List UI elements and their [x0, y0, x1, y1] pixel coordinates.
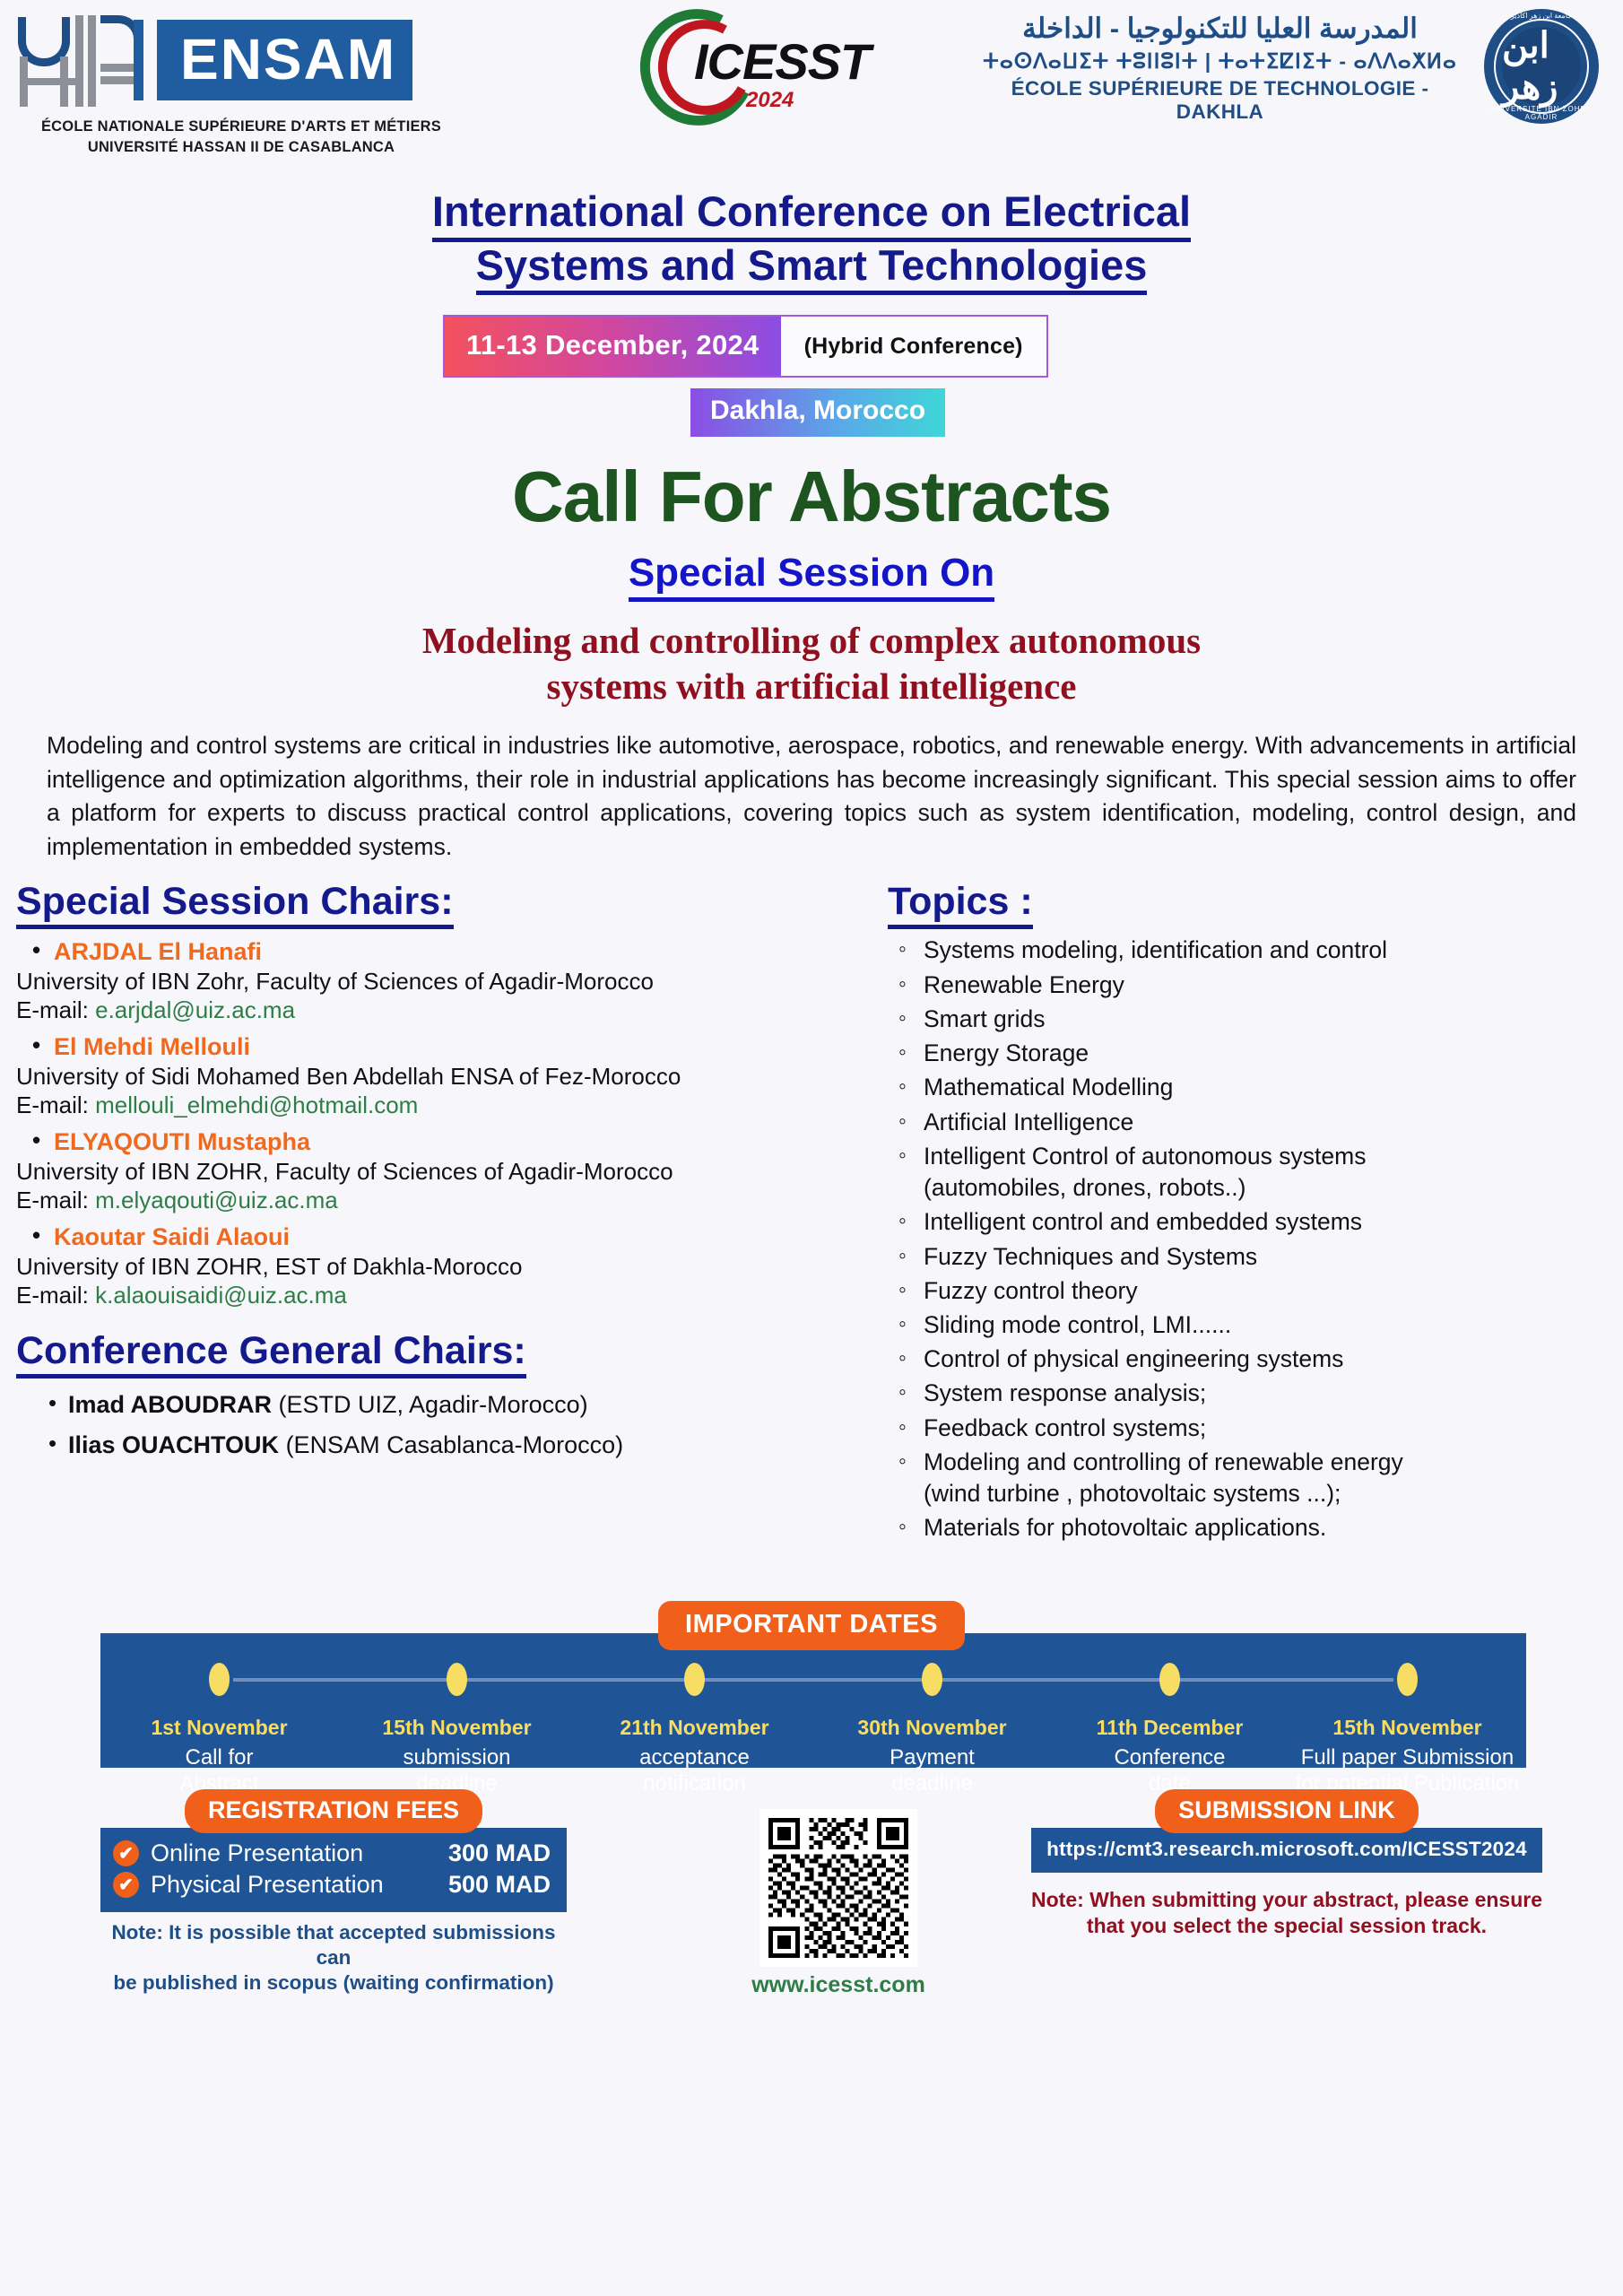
chair-email[interactable]: k.alaouisaidi@uiz.ac.ma	[95, 1282, 347, 1309]
milestone-date: 30th November	[813, 1716, 1051, 1740]
timeline-milestone: 21th November acceptance notification	[576, 1633, 813, 1797]
ensam-wordmark: ENSAM	[147, 20, 412, 100]
important-dates-section: IMPORTANT DATES 1st November Call for Ab…	[0, 1601, 1623, 1771]
timeline-dot-icon	[684, 1663, 705, 1696]
timeline-milestone: 30th November Payment deadline	[813, 1633, 1051, 1797]
special-session-chairs-heading: Special Session Chairs:	[16, 880, 454, 929]
topic-text: Fuzzy control theory	[924, 1277, 1138, 1304]
icesst-logo: ICESST 2024	[638, 5, 870, 131]
fee-price: 300 MAD	[448, 1839, 551, 1867]
submission-link-block: SUBMISSION LINK https://cmt3.research.mi…	[1031, 1789, 1542, 1939]
topic-item: Renewable Energy	[924, 970, 1614, 1001]
milestone-label-line1: Call for	[100, 1745, 338, 1771]
uiz-seal-arabic-text: جامعة ابن زهر اكادير	[1484, 12, 1599, 20]
topic-text: Renewable Energy	[924, 971, 1124, 998]
topic-item: Sliding mode control, LMI......	[924, 1309, 1614, 1341]
fee-type: Online Presentation	[151, 1839, 448, 1867]
timeline-dot-icon	[1397, 1663, 1418, 1696]
chairs-column: Special Session Chairs: ARJDAL El Hanafi…	[16, 880, 868, 1459]
milestone-date: 15th November	[1289, 1716, 1526, 1740]
special-session-on-wrapper: Special Session On	[0, 551, 1623, 602]
registration-fees-panel: ✔ Online Presentation 300 MAD ✔ Physical…	[100, 1828, 567, 1912]
milestone-date: 15th November	[338, 1716, 576, 1740]
est-tifinagh-name: ⵜⴰⵙⴷⴰⵡⵉⵜ ⵜⵓⵏⵏⵓⵏⵜ | ⵜⴰⵜⵉⵇⵏⵉⵜ - ⴰⴷⴷⴰⵅⵍⴰ	[976, 49, 1464, 74]
conference-title-line2: Systems and Smart Technologies	[476, 242, 1148, 296]
timeline-milestone: 15th November submission deadline	[338, 1633, 576, 1797]
chair-entry: ARJDAL El Hanafi University of IBN Zohr,…	[16, 938, 868, 1024]
topic-text: System response analysis;	[924, 1379, 1206, 1406]
session-topic-line1: Modeling and controlling of complex auto…	[0, 618, 1623, 664]
uiz-seal-monogram: ابن زهر	[1502, 27, 1581, 106]
registration-fees-block: REGISTRATION FEES ✔ Online Presentation …	[100, 1789, 567, 1996]
email-label: E-mail:	[16, 1091, 95, 1118]
header-logos: ENSAM ÉCOLE NATIONALE SUPÉRIEURE D'ARTS …	[0, 0, 1623, 179]
icesst-wordmark: ICESST	[694, 32, 870, 91]
submission-note-line2: that you select the special session trac…	[1031, 1913, 1542, 1939]
registration-note: Note: It is possible that accepted submi…	[100, 1920, 567, 1996]
general-chair-name: Imad ABOUDRAR	[68, 1391, 272, 1418]
poster-root: ENSAM ÉCOLE NATIONALE SUPÉRIEURE D'ARTS …	[0, 0, 1623, 2296]
ensam-subtitle-line2: UNIVERSITÉ HASSAN II DE CASABLANCA	[13, 139, 470, 156]
chair-name: ELYAQOUTI Mustapha	[54, 1128, 868, 1156]
topic-text: Feedback control systems;	[924, 1414, 1206, 1441]
topic-text: Materials for photovoltaic applications.	[924, 1514, 1326, 1541]
chair-affiliation: University of IBN ZOHR, EST of Dakhla-Mo…	[16, 1253, 868, 1281]
registration-note-line2: be published in scopus (waiting confirma…	[100, 1970, 567, 1996]
fee-type: Physical Presentation	[151, 1871, 448, 1899]
special-session-on-heading: Special Session On	[629, 551, 994, 602]
chair-entry: Kaoutar Saidi Alaoui University of IBN Z…	[16, 1223, 868, 1309]
fee-row: ✔ Online Presentation 300 MAD	[113, 1839, 551, 1867]
timeline: 1st November Call for Abstract 15th Nove…	[100, 1633, 1526, 1768]
chair-email[interactable]: e.arjdal@uiz.ac.ma	[95, 996, 295, 1023]
est-french-name: ÉCOLE SUPÉRIEURE DE TECHNOLOGIE - DAKHLA	[976, 77, 1464, 124]
bottom-section: REGISTRATION FEES ✔ Online Presentation …	[0, 1789, 1623, 2058]
topic-item: Modeling and controlling of renewable en…	[924, 1447, 1614, 1509]
topic-text: Control of physical engineering systems	[924, 1345, 1343, 1372]
registration-note-line1: Note: It is possible that accepted submi…	[100, 1920, 567, 1970]
general-chair-entry: Ilias OUACHTOUK (ENSAM Casablanca-Morocc…	[68, 1431, 868, 1459]
topic-text: Intelligent Control of autonomous system…	[924, 1143, 1366, 1170]
fee-row: ✔ Physical Presentation 500 MAD	[113, 1871, 551, 1899]
topics-heading-wrapper: Topics :	[888, 880, 1614, 929]
chair-entry: ELYAQOUTI Mustapha University of IBN ZOH…	[16, 1128, 868, 1214]
chair-name: El Mehdi Mellouli	[54, 1033, 868, 1061]
topic-text: Artificial Intelligence	[924, 1109, 1133, 1135]
conference-general-chairs-heading: Conference General Chairs:	[16, 1329, 526, 1378]
timeline-dot-icon	[1159, 1663, 1180, 1696]
topic-item: Control of physical engineering systems	[924, 1344, 1614, 1375]
topic-item: Energy Storage	[924, 1038, 1614, 1069]
timeline-milestone: 15th November Full paper Submission for …	[1289, 1633, 1526, 1797]
milestone-label-line1: Conference	[1051, 1745, 1289, 1771]
timeline-dot-icon	[209, 1663, 230, 1696]
chair-email[interactable]: mellouli_elmehdi@hotmail.com	[95, 1091, 418, 1118]
topic-item: Fuzzy control theory	[924, 1275, 1614, 1307]
topic-text-continuation: (wind turbine , photovoltaic systems ...…	[924, 1478, 1614, 1509]
milestone-label-line1: Payment	[813, 1745, 1051, 1771]
conference-title: International Conference on Electrical S…	[0, 188, 1623, 295]
important-dates-panel: 1st November Call for Abstract 15th Nove…	[100, 1633, 1526, 1768]
email-label: E-mail:	[16, 1187, 95, 1213]
ensam-logo: ENSAM ÉCOLE NATIONALE SUPÉRIEURE D'ARTS …	[13, 7, 470, 156]
topic-item: Artificial Intelligence	[924, 1107, 1614, 1138]
general-chair-entry: Imad ABOUDRAR (ESTD UIZ, Agadir-Morocco)	[68, 1391, 868, 1419]
chair-name: Kaoutar Saidi Alaoui	[54, 1223, 868, 1251]
topic-text: Fuzzy Techniques and Systems	[924, 1243, 1257, 1270]
topics-column: Topics : Systems modeling, identificatio…	[888, 880, 1614, 1544]
timeline-milestone: 1st November Call for Abstract	[100, 1633, 338, 1797]
session-topic: Modeling and controlling of complex auto…	[0, 618, 1623, 709]
ensam-subtitle-line1: ÉCOLE NATIONALE SUPÉRIEURE D'ARTS ET MÉT…	[13, 118, 470, 135]
chair-affiliation: University of IBN ZOHR, Faculty of Scien…	[16, 1158, 868, 1186]
topic-text: Sliding mode control, LMI......	[924, 1311, 1231, 1338]
milestone-date: 21th November	[576, 1716, 813, 1740]
qr-block: www.icesst.com	[749, 1809, 928, 1998]
general-chair-name: Ilias OUACHTOUK	[68, 1431, 279, 1458]
topic-item: Feedback control systems;	[924, 1413, 1614, 1444]
submission-link-badge: SUBMISSION LINK	[1155, 1789, 1419, 1833]
topic-item: Intelligent Control of autonomous system…	[924, 1141, 1614, 1204]
milestone-date: 1st November	[100, 1716, 338, 1740]
conference-mode-badge: (Hybrid Conference)	[781, 317, 1046, 376]
general-chairs-heading-wrapper: Conference General Chairs:	[16, 1329, 868, 1378]
chair-email-row: E-mail: mellouli_elmehdi@hotmail.com	[16, 1091, 868, 1119]
qr-code-icon[interactable]	[759, 1809, 917, 1967]
milestone-label-line1: submission	[338, 1745, 576, 1771]
topic-text: Intelligent control and embedded systems	[924, 1208, 1362, 1235]
conference-dates-badge: 11-13 December, 2024	[445, 317, 781, 376]
uh2-monogram-icon	[13, 10, 147, 110]
general-chair-affiliation: (ESTD UIZ, Agadir-Morocco)	[279, 1391, 588, 1418]
session-topic-line2: systems with artificial intelligence	[0, 664, 1623, 709]
conference-title-line1: International Conference on Electrical	[432, 188, 1191, 242]
topic-text-continuation: (automobiles, drones, robots..)	[924, 1172, 1614, 1204]
email-label: E-mail:	[16, 996, 95, 1023]
event-banners: 11-13 December, 2024 (Hybrid Conference)…	[0, 315, 1623, 436]
chair-name: ARJDAL El Hanafi	[54, 938, 868, 966]
chair-email-row: E-mail: e.arjdal@uiz.ac.ma	[16, 996, 868, 1024]
chair-email[interactable]: m.elyaqouti@uiz.ac.ma	[95, 1187, 338, 1213]
topic-text: Systems modeling, identification and con…	[924, 936, 1387, 963]
submission-note-line1: Note: When submitting your abstract, ple…	[1031, 1887, 1542, 1913]
chair-affiliation: University of IBN Zohr, Faculty of Scien…	[16, 968, 868, 996]
special-session-chairs-heading-wrapper: Special Session Chairs:	[16, 880, 868, 929]
topic-item: Mathematical Modelling	[924, 1072, 1614, 1103]
uiz-seal-logo: جامعة ابن زهر اكادير ابن زهر UNIVERSITÉ …	[1484, 9, 1599, 124]
conference-location-badge: Dakhla, Morocco	[690, 388, 945, 437]
milestone-date: 11th December	[1051, 1716, 1289, 1740]
topic-text: Energy Storage	[924, 1039, 1089, 1066]
call-for-abstracts-heading: Call For Abstracts	[0, 456, 1623, 538]
icesst-year: 2024	[746, 88, 794, 113]
timeline-dot-icon	[922, 1663, 942, 1696]
check-icon: ✔	[113, 1872, 139, 1898]
content-columns: Special Session Chairs: ARJDAL El Hanafi…	[0, 880, 1623, 1597]
chair-entry: El Mehdi Mellouli University of Sidi Moh…	[16, 1033, 868, 1119]
session-abstract-paragraph: Modeling and control systems are critica…	[47, 729, 1576, 865]
uiz-seal-latin-text: UNIVERSITÉ IBN ZOHR - AGADIR	[1484, 105, 1599, 121]
topic-text: Modeling and controlling of renewable en…	[924, 1448, 1403, 1475]
topic-item: Smart grids	[924, 1004, 1614, 1035]
milestone-label-line1: Full paper Submission	[1289, 1745, 1526, 1771]
topic-item: Systems modeling, identification and con…	[924, 935, 1614, 966]
topic-item: System response analysis;	[924, 1378, 1614, 1409]
est-arabic-name: المدرسة العليا للتكنولوجيا - الداخلة	[976, 13, 1464, 45]
est-dakhla-logo: المدرسة العليا للتكنولوجيا - الداخلة ⵜⴰⵙ…	[976, 13, 1464, 124]
date-mode-row: 11-13 December, 2024 (Hybrid Conference)	[443, 315, 1048, 378]
topic-text: Mathematical Modelling	[924, 1074, 1173, 1100]
ensam-subtitle: ÉCOLE NATIONALE SUPÉRIEURE D'ARTS ET MÉT…	[13, 118, 470, 156]
topic-item: Materials for photovoltaic applications.	[924, 1512, 1614, 1544]
chair-affiliation: University of Sidi Mohamed Ben Abdellah …	[16, 1063, 868, 1091]
topic-item: Fuzzy Techniques and Systems	[924, 1241, 1614, 1273]
chair-email-row: E-mail: k.alaouisaidi@uiz.ac.ma	[16, 1282, 868, 1309]
submission-note: Note: When submitting your abstract, ple…	[1031, 1887, 1542, 1939]
fee-price: 500 MAD	[448, 1871, 551, 1899]
chair-email-row: E-mail: m.elyaqouti@uiz.ac.ma	[16, 1187, 868, 1214]
general-chair-affiliation: (ENSAM Casablanca-Morocco)	[286, 1431, 624, 1458]
topic-text: Smart grids	[924, 1005, 1045, 1032]
topics-heading: Topics :	[888, 880, 1033, 929]
timeline-milestone: 11th December Conference date	[1051, 1633, 1289, 1797]
timeline-dot-icon	[447, 1663, 467, 1696]
email-label: E-mail:	[16, 1282, 95, 1309]
important-dates-badge: IMPORTANT DATES	[658, 1601, 965, 1650]
check-icon: ✔	[113, 1840, 139, 1866]
topic-item: Intelligent control and embedded systems	[924, 1206, 1614, 1238]
website-url[interactable]: www.icesst.com	[749, 1972, 928, 1998]
milestone-label-line1: acceptance	[576, 1745, 813, 1771]
submission-link-url[interactable]: https://cmt3.research.microsoft.com/ICES…	[1031, 1828, 1542, 1873]
registration-fees-badge: REGISTRATION FEES	[185, 1789, 482, 1833]
